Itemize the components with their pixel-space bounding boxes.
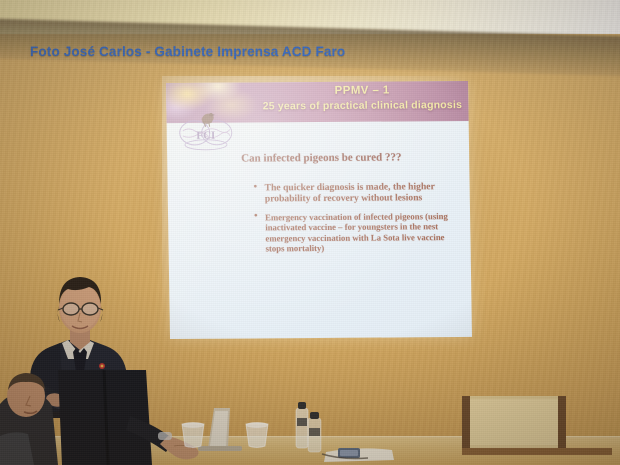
photo-vignette: [0, 0, 620, 465]
conference-photo: PPMV – 1 25 years of practical clinical …: [0, 0, 620, 465]
